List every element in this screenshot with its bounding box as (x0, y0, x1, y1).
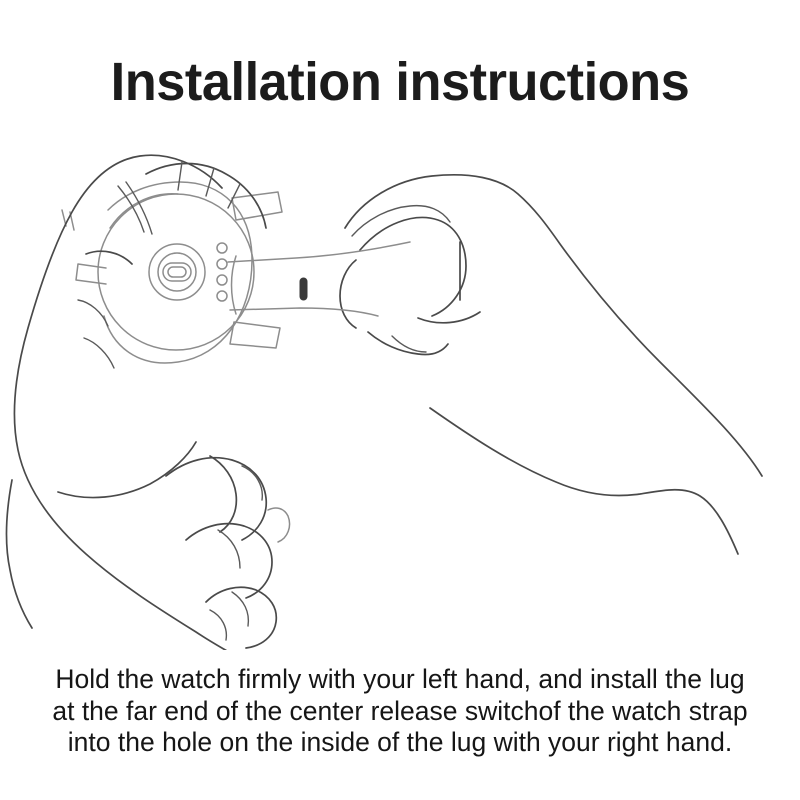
heart-rate-sensor (149, 244, 205, 300)
caption-line-2: at the far end of the center release swi… (0, 696, 800, 728)
round-watch-case (62, 182, 282, 363)
page-title: Installation instructions (12, 52, 788, 112)
hands-watch-line-drawing (0, 150, 800, 650)
quick-release-switch (300, 278, 307, 300)
installation-instructions-page: Installation instructions (0, 0, 800, 800)
caption-line-3: into the hole on the inside of the lug w… (0, 727, 800, 759)
watch-strap (228, 242, 410, 316)
sensor-dots (217, 243, 227, 301)
right-hand-holding-strap (340, 175, 762, 554)
installation-illustration (0, 150, 800, 650)
caption-text: Hold the watch firmly with your left han… (0, 664, 800, 759)
caption-line-1: Hold the watch firmly with your left han… (0, 664, 800, 696)
